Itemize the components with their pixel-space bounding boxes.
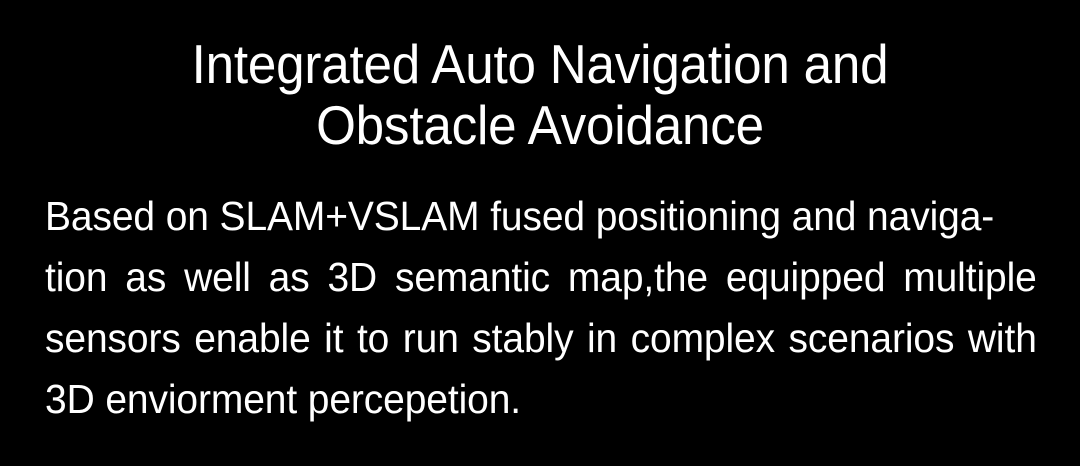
body-word: with <box>968 308 1037 369</box>
body-word: stably <box>472 308 573 369</box>
body-line-3: sensors enable it to run stably in compl… <box>45 308 1037 369</box>
body-word: as <box>125 247 166 308</box>
presentation-slide: Integrated Auto Navigation and Obstacle … <box>0 0 1080 466</box>
body-word: as <box>269 247 310 308</box>
body-line-4: 3D enviorment percepetion. <box>45 369 987 430</box>
body-word: equipped <box>726 247 886 308</box>
title-line-2: Obstacle Avoidance <box>38 95 1042 156</box>
body-word: to <box>357 308 389 369</box>
title-line-1: Integrated Auto Navigation and <box>38 34 1042 95</box>
body-line-2: tion as well as 3D semantic map,the equi… <box>45 247 1037 308</box>
body-word: run <box>403 308 459 369</box>
body-word: complex <box>631 308 775 369</box>
body-word: in <box>587 308 617 369</box>
body-word: sensors <box>45 308 181 369</box>
body-word: well <box>184 247 251 308</box>
body-word: enable <box>194 308 310 369</box>
body-word: scenarios <box>789 308 955 369</box>
body-word: multiple <box>903 247 1036 308</box>
body-word: it <box>324 308 343 369</box>
body-word: semantic <box>395 247 550 308</box>
body-word: 3D <box>327 247 377 308</box>
slide-body-paragraph: Based on SLAM+VSLAM fused positioning an… <box>45 186 1037 430</box>
body-word: tion <box>45 247 107 308</box>
body-line-1: Based on SLAM+VSLAM fused positioning an… <box>45 186 987 247</box>
body-word: map,the <box>568 247 708 308</box>
slide-title: Integrated Auto Navigation and Obstacle … <box>0 34 1080 156</box>
